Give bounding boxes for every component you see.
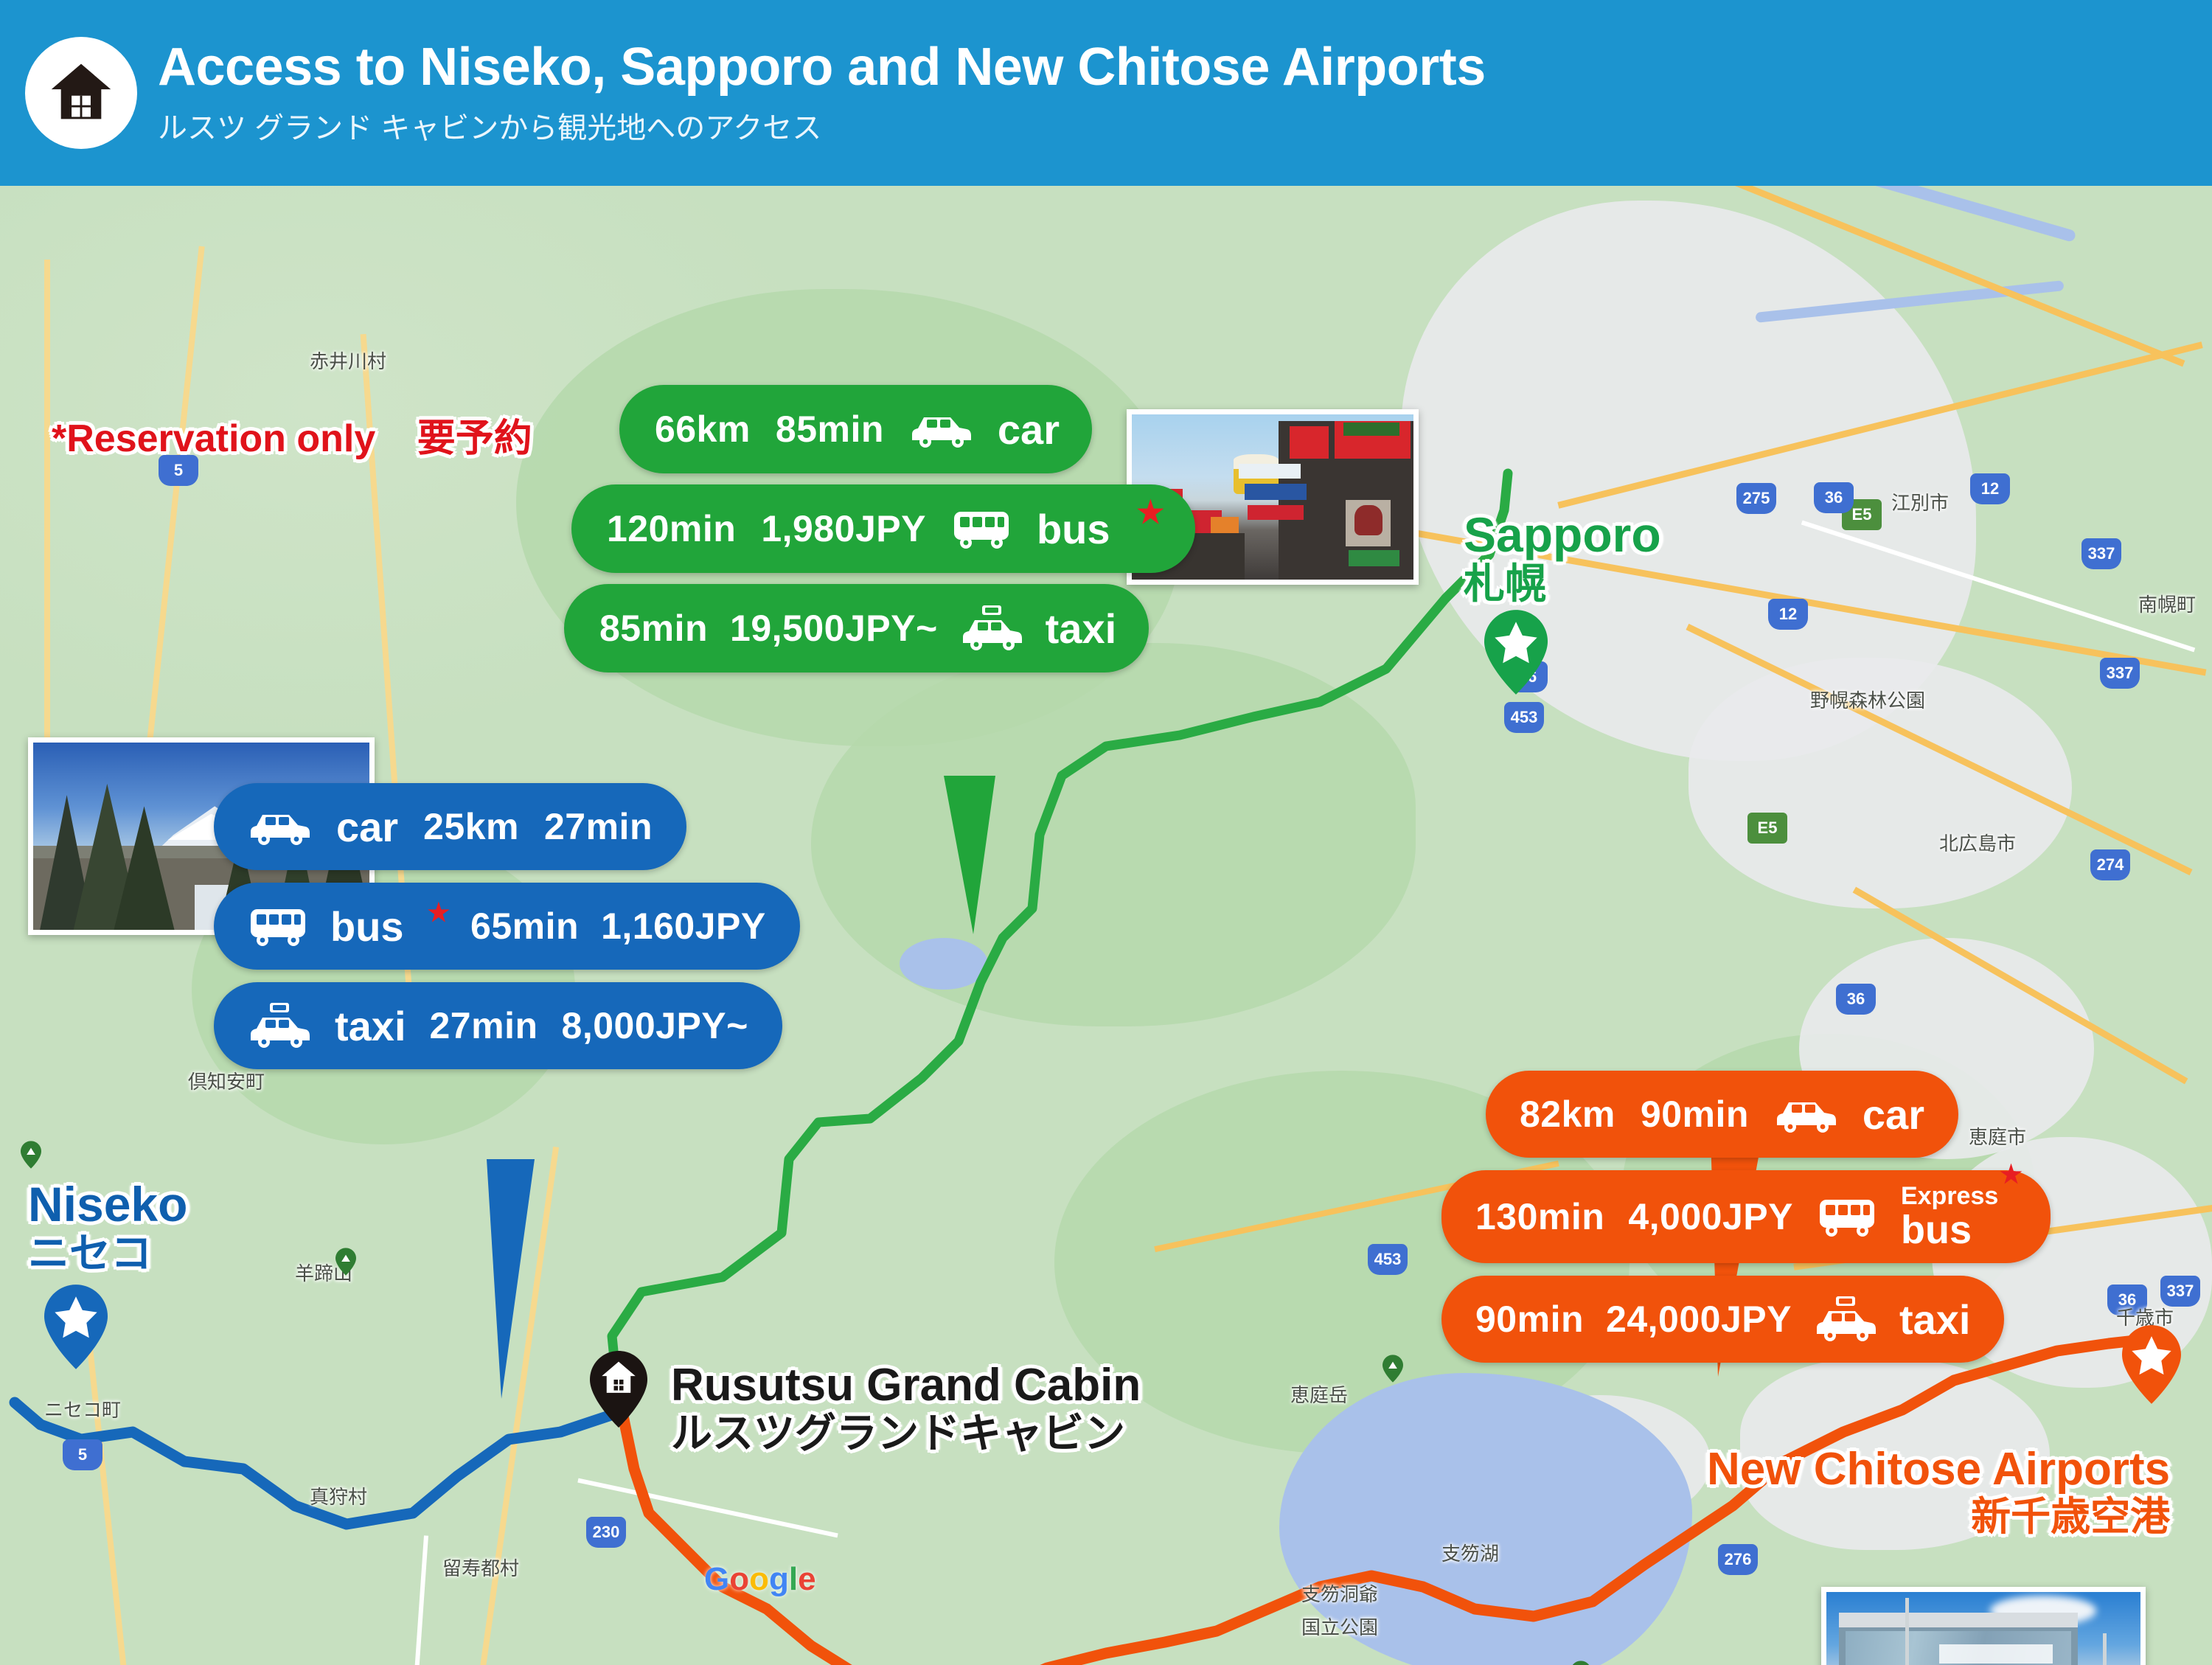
car-icon [1774, 1095, 1837, 1133]
badge-mode: bus [1901, 1210, 1972, 1250]
badge-duration: 90min [1475, 1298, 1584, 1341]
reservation-note-jp: 要予約 [417, 417, 532, 460]
badge-duration: 130min [1475, 1195, 1604, 1238]
badge-tail-niseko [413, 1159, 560, 1402]
badge-distance: 25km [423, 805, 519, 848]
road-shield: 337 [2160, 1276, 2200, 1307]
page-title: Access to Niseko, Sapporo and New Chitos… [158, 39, 1486, 97]
house-pin-icon-rusutsu[interactable] [590, 1351, 647, 1431]
map-canvas[interactable]: 539312275337337E51236E527436363373935230… [0, 186, 2212, 1665]
road-shield: 337 [2081, 538, 2121, 569]
route-badge-sapporo-taxi[interactable]: 85min 19,500JPY~ taxi [564, 584, 1149, 672]
route-badge-chitose-taxi[interactable]: 90min 24,000JPY taxi [1441, 1276, 2004, 1363]
road-shield: 453 [1368, 1244, 1408, 1275]
poi-pin-left [21, 1141, 41, 1169]
badge-fare: 1,160JPY [601, 905, 766, 948]
poi-pin-eniwadake [1382, 1355, 1403, 1383]
star-pin-icon-chitose[interactable] [2122, 1325, 2181, 1408]
place-label-rusutsu: Rusutsu Grand Cabin ルスツグランドキャビン [671, 1363, 1141, 1454]
badge-duration: 27min [544, 805, 653, 848]
route-badge-sapporo-car[interactable]: 66km 85min car [619, 385, 1092, 473]
page-subtitle: ルスツ グランド キャビンから観光地へのアクセス [158, 104, 1486, 147]
route-badge-niseko-bus[interactable]: bus ★ 65min 1,160JPY [214, 883, 800, 970]
badge-duration: 120min [607, 507, 736, 550]
badge-duration: 65min [470, 905, 579, 948]
map-label: 野幌森林公園 [1810, 686, 1925, 713]
map-label: 南幌町 [2138, 590, 2196, 617]
badge-duration: 90min [1641, 1093, 1749, 1136]
badge-mode-prefix: Express [1901, 1183, 1998, 1209]
badge-fare: 19,500JPY~ [730, 607, 938, 650]
map-label: 恵庭市 [1969, 1122, 2026, 1150]
place-label-niseko-jp: ニセコ [28, 1233, 187, 1274]
reservation-note: *Reservation only 要予約 [52, 407, 532, 462]
badge-duration: 27min [430, 1004, 538, 1047]
route-badge-sapporo-bus[interactable]: 120min 1,980JPY bus ★ [571, 484, 1195, 573]
page-header: Access to Niseko, Sapporo and New Chitos… [0, 0, 2212, 186]
bus-icon [1817, 1195, 1877, 1238]
map-label: 倶知安町 [188, 1067, 265, 1094]
road-shield: 36 [1814, 482, 1854, 513]
badge-duration: 85min [776, 408, 884, 451]
place-label-chitose-en: New Chitose Airports [1707, 1447, 2170, 1492]
map-label: 真狩村 [310, 1482, 367, 1509]
badge-mode: taxi [1046, 605, 1117, 653]
road-shield: 12 [1970, 473, 2010, 504]
road-shield: 36 [1836, 984, 1876, 1015]
taxi-icon [248, 1003, 311, 1049]
road-shield: E5 [1747, 813, 1787, 844]
badge-mode: car [998, 406, 1060, 453]
badge-fare: 1,980JPY [761, 507, 926, 550]
star-pin-icon-niseko[interactable] [44, 1285, 108, 1373]
road-shield: 230 [586, 1517, 626, 1548]
badge-tail-sapporo [914, 776, 1062, 938]
place-label-chitose: New Chitose Airports 新千歳空港 [1707, 1447, 2170, 1537]
map-label: 支笏洞爺 [1301, 1579, 1378, 1607]
map-label: 赤井川村 [310, 347, 386, 374]
badge-duration: 85min [599, 607, 708, 650]
badge-fare: 4,000JPY [1628, 1195, 1793, 1238]
place-label-sapporo-jp: 札幌 [1464, 563, 1661, 605]
map-label: 留寿都村 [442, 1554, 519, 1581]
route-badge-niseko-car[interactable]: car 25km 27min [214, 783, 686, 870]
road-shield: 274 [2090, 849, 2130, 880]
reservation-note-en: *Reservation only [52, 417, 375, 460]
badge-mode: bus [1037, 505, 1110, 553]
road-shield: 12 [1768, 599, 1808, 630]
badge-mode: taxi [1899, 1296, 1971, 1344]
badge-fare: 24,000JPY [1606, 1298, 1792, 1341]
badge-distance: 66km [655, 408, 751, 451]
taxi-icon [960, 605, 1023, 651]
road-shield: 453 [1504, 702, 1544, 733]
route-badge-niseko-taxi[interactable]: taxi 27min 8,000JPY~ [214, 982, 782, 1069]
poi-pin-yoteizan [335, 1248, 356, 1276]
road-shield: 5 [63, 1439, 102, 1470]
badge-fare: 8,000JPY~ [562, 1004, 748, 1047]
infographic-page: Access to Niseko, Sapporo and New Chitos… [0, 0, 2212, 1665]
map-label: 恵庭岳 [1290, 1380, 1348, 1408]
road-shield: 276 [1718, 1544, 1758, 1575]
car-icon [909, 410, 973, 448]
map-label: 江別市 [1891, 488, 1949, 515]
badge-mode: car [336, 803, 398, 851]
road-shield: 275 [1736, 483, 1776, 514]
place-label-chitose-jp: 新千歳空港 [1707, 1497, 2170, 1537]
place-label-niseko-en: Niseko [28, 1180, 187, 1228]
taxi-icon [1814, 1296, 1877, 1342]
star-pin-icon-sapporo[interactable] [1484, 610, 1548, 698]
badge-mode: taxi [335, 1002, 406, 1050]
map-label: ニセコ町 [44, 1395, 121, 1422]
place-label-sapporo: Sapporo 札幌 [1464, 510, 1661, 605]
badge-distance: 82km [1520, 1093, 1615, 1136]
road-shield: 337 [2100, 658, 2140, 689]
poi-pin-tarumaesan [1571, 1661, 1591, 1665]
badge-mode: car [1863, 1091, 1924, 1139]
bus-icon [951, 507, 1012, 550]
map-label: 北広島市 [1939, 829, 2016, 856]
place-label-rusutsu-jp: ルスツグランドキャビン [671, 1413, 1141, 1454]
place-label-rusutsu-en: Rusutsu Grand Cabin [671, 1363, 1141, 1408]
google-attribution: Google [704, 1561, 816, 1598]
house-logo-badge [25, 37, 137, 149]
route-badge-chitose-bus[interactable]: 130min 4,000JPY Express ★ bus [1441, 1170, 2051, 1263]
car-icon [248, 807, 311, 846]
map-label: 支笏湖 [1441, 1539, 1499, 1566]
badge-mode: bus [330, 903, 404, 950]
house-icon [47, 58, 115, 129]
map-label: 国立公園 [1301, 1613, 1378, 1640]
route-badge-chitose-car[interactable]: 82km 90min car [1486, 1071, 1958, 1158]
bus-icon [248, 905, 308, 948]
place-label-niseko: Niseko ニセコ [28, 1180, 187, 1274]
photo-new-chitose-airport [1821, 1587, 2146, 1665]
place-label-sapporo-en: Sapporo [1464, 510, 1661, 559]
